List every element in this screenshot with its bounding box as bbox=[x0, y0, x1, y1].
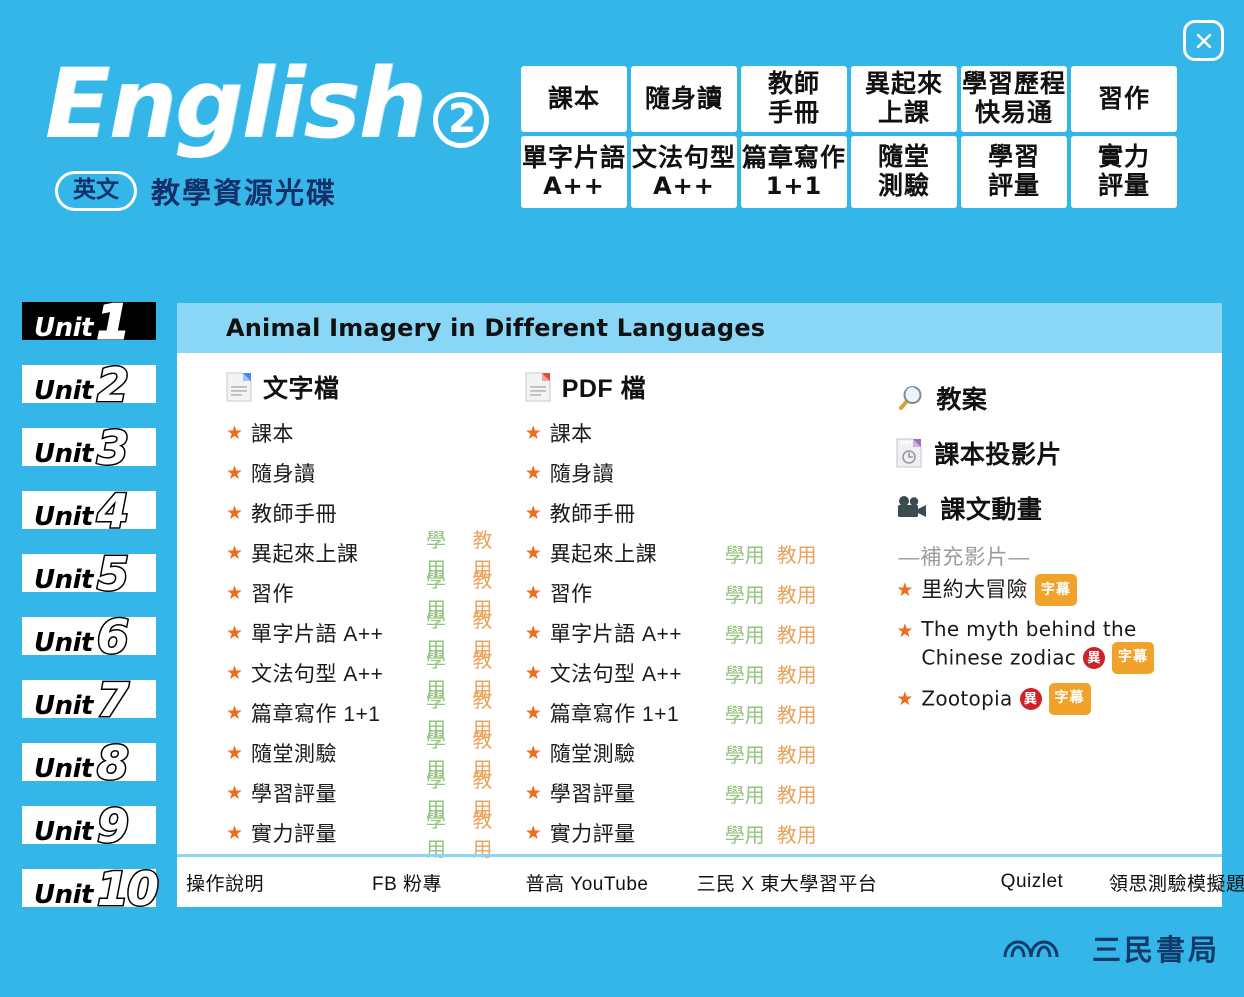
topnav-button-5-line-1: 學習歷程 bbox=[962, 70, 1066, 99]
extra-item-animation[interactable]: 課文動畫 bbox=[896, 480, 1222, 535]
tag-group: 學用教用 bbox=[725, 739, 817, 768]
unit-number: 10 bbox=[97, 862, 157, 916]
pdf-file-row[interactable]: ★文法句型 A++學用教用 bbox=[525, 653, 837, 693]
word-file-label: 教師手冊 bbox=[251, 498, 426, 528]
supplementary-video-text: 里約大冒險字幕 bbox=[921, 575, 1077, 607]
pdf-file-label: 實力評量 bbox=[550, 818, 725, 848]
pdf-file-label: 習作 bbox=[550, 578, 725, 608]
badge-subtitle[interactable]: 字幕 bbox=[1049, 683, 1091, 715]
badge-subtitle[interactable]: 字幕 bbox=[1035, 574, 1077, 606]
topnav-button-1[interactable]: 課本 bbox=[521, 66, 627, 132]
top-nav-grid: 課本隨身讀教師手冊異起來上課學習歷程快易通習作單字片語A++文法句型A++篇章寫… bbox=[521, 66, 1177, 208]
topnav-button-4[interactable]: 異起來上課 bbox=[851, 66, 957, 132]
magnifier-icon bbox=[896, 384, 924, 412]
pdf-file-label: 異起來上課 bbox=[550, 538, 725, 568]
unit-word: Unit bbox=[34, 376, 93, 406]
panel-footer: 操作說明FB 粉專普高 YouTube三民 X 東大學習平台Quizlet領思測… bbox=[177, 854, 1222, 907]
unit-number: 9 bbox=[97, 799, 127, 853]
tag-teacher-use[interactable]: 教用 bbox=[777, 819, 817, 848]
topnav-button-9-line-1: 篇章寫作 bbox=[742, 144, 846, 173]
corp-logo: 三民書局 bbox=[1002, 927, 1220, 969]
pdf-file-row[interactable]: ★教師手冊 bbox=[525, 493, 837, 533]
star-icon: ★ bbox=[525, 582, 550, 605]
pdf-file-row[interactable]: ★異起來上課學用教用 bbox=[525, 533, 837, 573]
sidebar-item-unit-9[interactable]: Unit9 bbox=[22, 800, 172, 863]
supplementary-video-text: The myth behind the Chinese zodiac異字幕 bbox=[921, 616, 1222, 675]
star-icon: ★ bbox=[525, 502, 550, 525]
star-icon: ★ bbox=[525, 542, 550, 565]
topnav-button-7[interactable]: 單字片語A++ bbox=[521, 136, 627, 208]
topnav-button-12[interactable]: 實力評量 bbox=[1071, 136, 1177, 208]
extra-item-lesson-plan[interactable]: 教案 bbox=[896, 370, 1222, 425]
supplementary-video-item[interactable]: ★Zootopia異字幕 bbox=[896, 684, 1222, 716]
topnav-button-3[interactable]: 教師手冊 bbox=[741, 66, 847, 132]
topnav-button-11-line-1: 學習 bbox=[988, 143, 1040, 172]
star-icon: ★ bbox=[226, 462, 251, 485]
ppt-icon: PPT bbox=[896, 438, 922, 468]
sidebar-item-unit-6[interactable]: Unit6 bbox=[22, 611, 172, 674]
topnav-button-10[interactable]: 隨堂測驗 bbox=[851, 136, 957, 208]
topnav-button-11-line-2: 評量 bbox=[988, 172, 1040, 201]
panel-body: 文字檔 ★課本★隨身讀★教師手冊★異起來上課學用教用★習作學用教用★單字片語 A… bbox=[177, 353, 1222, 854]
word-file-list: ★課本★隨身讀★教師手冊★異起來上課學用教用★習作學用教用★單字片語 A++學用… bbox=[226, 413, 507, 853]
topnav-button-4-line-1: 異起來 bbox=[865, 70, 943, 99]
brand-subtitle: 教學資源光碟 bbox=[151, 170, 337, 212]
column-pdf-header: PDF 檔 bbox=[525, 370, 837, 404]
supplementary-video-title: Zootopia bbox=[921, 687, 1012, 711]
topnav-button-6[interactable]: 習作 bbox=[1071, 66, 1177, 132]
footer-link-1[interactable]: 操作說明 bbox=[135, 869, 315, 896]
star-icon: ★ bbox=[226, 782, 251, 805]
word-file-label: 學習評量 bbox=[251, 778, 426, 808]
unit-word: Unit bbox=[34, 817, 93, 847]
tag-student-use[interactable]: 學用 bbox=[725, 819, 765, 848]
word-file-row[interactable]: ★隨身讀 bbox=[226, 453, 507, 493]
unit-number: 4 bbox=[97, 484, 127, 538]
unit-word: Unit bbox=[34, 628, 93, 658]
unit-word: Unit bbox=[34, 439, 93, 469]
sidebar-item-unit-4[interactable]: Unit4 bbox=[22, 485, 172, 548]
star-icon: ★ bbox=[226, 822, 251, 845]
extra-item-slides[interactable]: PPT 課本投影片 bbox=[896, 425, 1222, 480]
sidebar-item-unit-8[interactable]: Unit8 bbox=[22, 737, 172, 800]
topnav-button-5[interactable]: 學習歷程快易通 bbox=[961, 66, 1067, 132]
unit-number: 1 bbox=[97, 295, 127, 349]
unit-word: Unit bbox=[34, 313, 93, 343]
word-file-label: 單字片語 A++ bbox=[251, 618, 426, 648]
star-icon: ★ bbox=[525, 422, 550, 445]
topnav-button-8-line-2: A++ bbox=[653, 173, 715, 201]
topnav-button-7-line-1: 單字片語 bbox=[522, 144, 626, 173]
close-icon bbox=[1194, 31, 1214, 51]
content-panel: Animal Imagery in Different Languages bbox=[177, 303, 1222, 907]
brand-volume-badge: 2 bbox=[433, 92, 489, 148]
sidebar-item-unit-1[interactable]: Unit1 bbox=[22, 296, 172, 359]
star-icon: ★ bbox=[525, 822, 550, 845]
topnav-button-3-line-1: 教師 bbox=[768, 70, 820, 99]
tag-group: 學用教用 bbox=[725, 819, 817, 848]
topnav-button-9[interactable]: 篇章寫作1+1 bbox=[741, 136, 847, 208]
svg-text:PPT: PPT bbox=[900, 440, 914, 447]
pdf-file-label: 課本 bbox=[550, 418, 725, 448]
pdf-file-row[interactable]: ★隨堂測驗學用教用 bbox=[525, 733, 837, 773]
supplementary-video-item[interactable]: ★里約大冒險字幕 bbox=[896, 575, 1222, 607]
tag-student-use[interactable]: 學用 bbox=[725, 539, 765, 568]
badge-subtitle[interactable]: 字幕 bbox=[1112, 642, 1154, 674]
star-icon: ★ bbox=[226, 502, 251, 525]
unit-sidebar: Unit1Unit2Unit3Unit4Unit5Unit6Unit7Unit8… bbox=[22, 296, 172, 926]
topnav-button-7-line-2: A++ bbox=[543, 173, 605, 201]
supplementary-video-text: Zootopia異字幕 bbox=[921, 684, 1090, 716]
topnav-button-10-line-1: 隨堂 bbox=[878, 143, 930, 172]
brand-subtitle-row: 英文 教學資源光碟 bbox=[55, 170, 505, 212]
brand-title: English 2 bbox=[45, 52, 505, 156]
unit-word: Unit bbox=[34, 754, 93, 784]
pdf-file-label: 篇章寫作 1+1 bbox=[550, 698, 725, 728]
topnav-button-4-line-2: 上課 bbox=[878, 99, 930, 128]
badge-different-version[interactable]: 異 bbox=[1083, 647, 1105, 669]
pdf-file-label: 教師手冊 bbox=[550, 498, 725, 528]
word-file-label: 隨堂測驗 bbox=[251, 738, 426, 768]
tag-teacher-use[interactable]: 教用 bbox=[777, 659, 817, 688]
tag-teacher-use[interactable]: 教用 bbox=[777, 539, 817, 568]
pdf-file-label: 文法句型 A++ bbox=[550, 658, 725, 688]
extra-label-animation: 課文動畫 bbox=[940, 490, 1042, 526]
topnav-button-6-line-1: 習作 bbox=[1098, 85, 1150, 114]
star-icon: ★ bbox=[896, 579, 921, 602]
tag-student-use[interactable]: 學用 bbox=[725, 699, 765, 728]
pdf-file-label: 學習評量 bbox=[550, 778, 725, 808]
video-camera-icon bbox=[896, 495, 928, 521]
sidebar-item-unit-3[interactable]: Unit3 bbox=[22, 422, 172, 485]
pdf-file-label: 單字片語 A++ bbox=[550, 618, 725, 648]
column-pdf-label: PDF 檔 bbox=[562, 369, 646, 405]
star-icon: ★ bbox=[226, 622, 251, 645]
unit-number: 8 bbox=[97, 736, 127, 790]
column-word-files: 文字檔 ★課本★隨身讀★教師手冊★異起來上課學用教用★習作學用教用★單字片語 A… bbox=[177, 370, 507, 854]
sidebar-item-unit-10[interactable]: Unit10 bbox=[22, 863, 172, 926]
tag-student-use[interactable]: 學用 bbox=[725, 779, 765, 808]
sidebar-item-unit-7[interactable]: Unit7 bbox=[22, 674, 172, 737]
tag-student-use[interactable]: 學用 bbox=[725, 659, 765, 688]
star-icon: ★ bbox=[525, 662, 550, 685]
sidebar-item-unit-5[interactable]: Unit5 bbox=[22, 548, 172, 611]
sidebar-item-unit-2[interactable]: Unit2 bbox=[22, 359, 172, 422]
unit-word: Unit bbox=[34, 691, 93, 721]
corp-name: 三民書局 bbox=[1092, 927, 1220, 969]
topnav-button-12-line-2: 評量 bbox=[1098, 172, 1150, 201]
star-icon: ★ bbox=[226, 702, 251, 725]
footer-link-2[interactable]: FB 粉專 bbox=[320, 869, 495, 896]
tag-group: 學用教用 bbox=[725, 619, 817, 648]
star-icon: ★ bbox=[525, 702, 550, 725]
star-icon: ★ bbox=[226, 582, 251, 605]
panel-header: Animal Imagery in Different Languages bbox=[177, 303, 1222, 353]
supplementary-video-separator: —補充影片— bbox=[898, 541, 1222, 571]
supplementary-video-item[interactable]: ★The myth behind the Chinese zodiac異字幕 bbox=[896, 616, 1222, 675]
topnav-button-11[interactable]: 學習評量 bbox=[961, 136, 1067, 208]
unit-word: Unit bbox=[34, 565, 93, 595]
column-pdf-files: PDF 檔 ★課本★隨身讀★教師手冊★異起來上課學用教用★習作學用教用★單字片語… bbox=[507, 370, 837, 854]
word-file-row[interactable]: ★實力評量學用教用 bbox=[226, 813, 507, 853]
supplementary-video-title: 里約大冒險 bbox=[921, 579, 1028, 602]
topnav-button-12-line-1: 實力 bbox=[1098, 143, 1150, 172]
column-word-label: 文字檔 bbox=[263, 369, 340, 405]
pdf-icon bbox=[525, 372, 551, 402]
footer-link-3[interactable]: 普高 YouTube bbox=[492, 869, 682, 896]
unit-number: 7 bbox=[97, 673, 127, 727]
word-file-label: 隨身讀 bbox=[251, 458, 426, 488]
subject-chip: 英文 bbox=[55, 171, 137, 210]
topnav-button-5-line-2: 快易通 bbox=[975, 99, 1053, 128]
unit-number: 2 bbox=[97, 358, 127, 412]
close-button[interactable] bbox=[1183, 20, 1224, 61]
star-icon: ★ bbox=[525, 742, 550, 765]
word-file-label: 習作 bbox=[251, 578, 426, 608]
footer-link-4[interactable]: 三民 X 東大學習平台 bbox=[670, 869, 905, 896]
tag-group: 學用教用 bbox=[725, 579, 817, 608]
tag-teacher-use[interactable]: 教用 bbox=[777, 699, 817, 728]
supplementary-video-list: ★里約大冒險字幕★The myth behind the Chinese zod… bbox=[896, 575, 1222, 716]
page-title: Animal Imagery in Different Languages bbox=[226, 314, 765, 342]
pdf-file-label: 隨身讀 bbox=[550, 458, 725, 488]
app-root: English 2 英文 教學資源光碟 課本隨身讀教師手冊異起來上課學習歷程快易… bbox=[0, 0, 1244, 997]
tag-student-use[interactable]: 學用 bbox=[725, 579, 765, 608]
unit-word: Unit bbox=[34, 880, 93, 910]
pdf-file-list: ★課本★隨身讀★教師手冊★異起來上課學用教用★習作學用教用★單字片語 A++學用… bbox=[525, 413, 837, 853]
tag-group: 學用教用 bbox=[725, 539, 817, 568]
star-icon: ★ bbox=[226, 422, 251, 445]
word-file-label: 課本 bbox=[251, 418, 426, 448]
word-file-row[interactable]: ★課本 bbox=[226, 413, 507, 453]
unit-word: Unit bbox=[34, 502, 93, 532]
column-extras: 教案 PPT 課本投影片 bbox=[836, 370, 1222, 854]
topnav-button-8[interactable]: 文法句型A++ bbox=[631, 136, 737, 208]
word-file-label: 實力評量 bbox=[251, 818, 426, 848]
tag-student-use[interactable]: 學用 bbox=[725, 619, 765, 648]
star-icon: ★ bbox=[226, 742, 251, 765]
footer-link-6[interactable]: 領思測驗模擬題庫 bbox=[1085, 869, 1244, 896]
topnav-button-2[interactable]: 隨身讀 bbox=[631, 66, 737, 132]
pdf-file-row[interactable]: ★實力評量學用教用 bbox=[525, 813, 837, 853]
topnav-button-8-line-1: 文法句型 bbox=[632, 144, 736, 173]
tag-group: 學用教用 bbox=[725, 779, 817, 808]
pdf-file-row[interactable]: ★篇章寫作 1+1學用教用 bbox=[525, 693, 837, 733]
badge-different-version[interactable]: 異 bbox=[1020, 688, 1042, 710]
tag-student-use[interactable]: 學用 bbox=[725, 739, 765, 768]
topnav-button-1-line-1: 課本 bbox=[548, 85, 600, 114]
extra-label-slides: 課本投影片 bbox=[934, 435, 1062, 471]
star-icon: ★ bbox=[896, 688, 921, 711]
pdf-file-label: 隨堂測驗 bbox=[550, 738, 725, 768]
word-file-label: 異起來上課 bbox=[251, 538, 426, 568]
star-icon: ★ bbox=[525, 782, 550, 805]
tag-teacher-use[interactable]: 教用 bbox=[777, 779, 817, 808]
star-icon: ★ bbox=[226, 662, 251, 685]
topnav-button-10-line-2: 測驗 bbox=[878, 172, 930, 201]
unit-number: 5 bbox=[97, 547, 127, 601]
topnav-button-9-line-2: 1+1 bbox=[766, 173, 823, 201]
brand-block: English 2 英文 教學資源光碟 bbox=[45, 52, 505, 212]
unit-number: 3 bbox=[97, 421, 127, 475]
star-icon: ★ bbox=[896, 620, 921, 643]
star-icon: ★ bbox=[525, 462, 550, 485]
topnav-button-3-line-2: 手冊 bbox=[768, 99, 820, 128]
unit-number: 6 bbox=[97, 610, 127, 664]
tag-teacher-use[interactable]: 教用 bbox=[777, 619, 817, 648]
pdf-file-row[interactable]: ★隨身讀 bbox=[525, 453, 837, 493]
tag-teacher-use[interactable]: 教用 bbox=[777, 579, 817, 608]
extra-label-lesson-plan: 教案 bbox=[936, 380, 987, 416]
word-file-label: 文法句型 A++ bbox=[251, 658, 426, 688]
pdf-file-row[interactable]: ★習作學用教用 bbox=[525, 573, 837, 613]
word-file-label: 篇章寫作 1+1 bbox=[251, 698, 426, 728]
column-word-header: 文字檔 bbox=[226, 370, 507, 404]
arch-logo-icon bbox=[1002, 931, 1082, 965]
tag-group: 學用教用 bbox=[725, 659, 817, 688]
topnav-button-2-line-1: 隨身讀 bbox=[645, 85, 723, 114]
document-icon bbox=[226, 372, 252, 402]
tag-group: 學用教用 bbox=[725, 699, 817, 728]
pdf-file-row[interactable]: ★單字片語 A++學用教用 bbox=[525, 613, 837, 653]
tag-teacher-use[interactable]: 教用 bbox=[777, 739, 817, 768]
pdf-file-row[interactable]: ★課本 bbox=[525, 413, 837, 453]
brand-title-text: English bbox=[45, 52, 425, 156]
pdf-file-row[interactable]: ★學習評量學用教用 bbox=[525, 773, 837, 813]
star-icon: ★ bbox=[226, 542, 251, 565]
star-icon: ★ bbox=[525, 622, 550, 645]
